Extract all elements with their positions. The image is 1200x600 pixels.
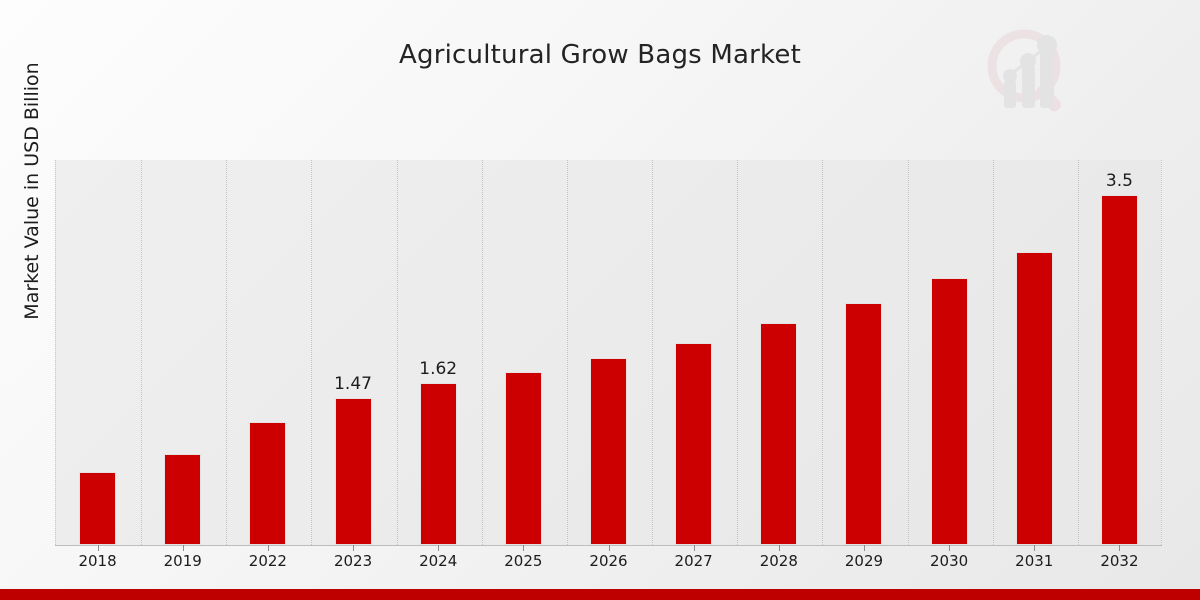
chart-figure: Agricultural Grow Bags Market Market Val… <box>0 0 1200 600</box>
bar-2031[interactable] <box>1016 252 1053 545</box>
magnifying-glass-bar-chart-logo-icon <box>978 22 1082 126</box>
x-tick-2030 <box>949 545 950 551</box>
bar-2019[interactable] <box>164 454 201 545</box>
x-tick-label-2028: 2028 <box>739 552 819 570</box>
bar-value-label-2023: 1.47 <box>313 374 393 394</box>
gridline <box>993 160 994 545</box>
x-tick-2032 <box>1119 545 1120 551</box>
bar-2029[interactable] <box>845 303 882 545</box>
gridline <box>737 160 738 545</box>
bar-2028[interactable] <box>760 323 797 545</box>
bar-value-label-2032: 3.5 <box>1079 171 1159 191</box>
gridline <box>397 160 398 545</box>
x-tick-2022 <box>268 545 269 551</box>
bar-2023[interactable] <box>335 398 372 545</box>
bar-2025[interactable] <box>505 372 542 545</box>
gridline <box>311 160 312 545</box>
x-tick-2025 <box>523 545 524 551</box>
bar-value-label-2024: 1.62 <box>398 359 478 379</box>
x-tick-label-2024: 2024 <box>398 552 478 570</box>
x-tick-label-2027: 2027 <box>654 552 734 570</box>
x-tick-2027 <box>694 545 695 551</box>
bar-2027[interactable] <box>675 343 712 545</box>
bar-2026[interactable] <box>590 358 627 545</box>
y-axis-label: Market Value in USD Billion <box>16 0 48 391</box>
gridline <box>652 160 653 545</box>
x-tick-label-2026: 2026 <box>569 552 649 570</box>
gridline <box>1078 160 1079 545</box>
x-tick-2031 <box>1034 545 1035 551</box>
gridline <box>908 160 909 545</box>
x-tick-2019 <box>183 545 184 551</box>
x-tick-label-2031: 2031 <box>994 552 1074 570</box>
x-tick-2024 <box>438 545 439 551</box>
gridline <box>226 160 227 545</box>
bar-2022[interactable] <box>249 422 286 545</box>
gridline <box>482 160 483 545</box>
bar-2030[interactable] <box>931 278 968 545</box>
x-tick-label-2019: 2019 <box>143 552 223 570</box>
x-tick-label-2025: 2025 <box>483 552 563 570</box>
bottom-accent-band <box>0 589 1200 600</box>
gridline <box>822 160 823 545</box>
x-tick-2023 <box>353 545 354 551</box>
x-tick-label-2023: 2023 <box>313 552 393 570</box>
x-tick-2028 <box>779 545 780 551</box>
x-tick-label-2018: 2018 <box>58 552 138 570</box>
x-tick-2029 <box>864 545 865 551</box>
bar-2018[interactable] <box>79 472 116 545</box>
x-tick-label-2030: 2030 <box>909 552 989 570</box>
gridline <box>567 160 568 545</box>
x-tick-2026 <box>609 545 610 551</box>
x-tick-label-2029: 2029 <box>824 552 904 570</box>
x-tick-label-2032: 2032 <box>1079 552 1159 570</box>
x-tick-label-2022: 2022 <box>228 552 308 570</box>
gridline <box>141 160 142 545</box>
bar-2024[interactable] <box>420 383 457 545</box>
bar-2032[interactable] <box>1101 195 1138 545</box>
x-tick-2018 <box>98 545 99 551</box>
